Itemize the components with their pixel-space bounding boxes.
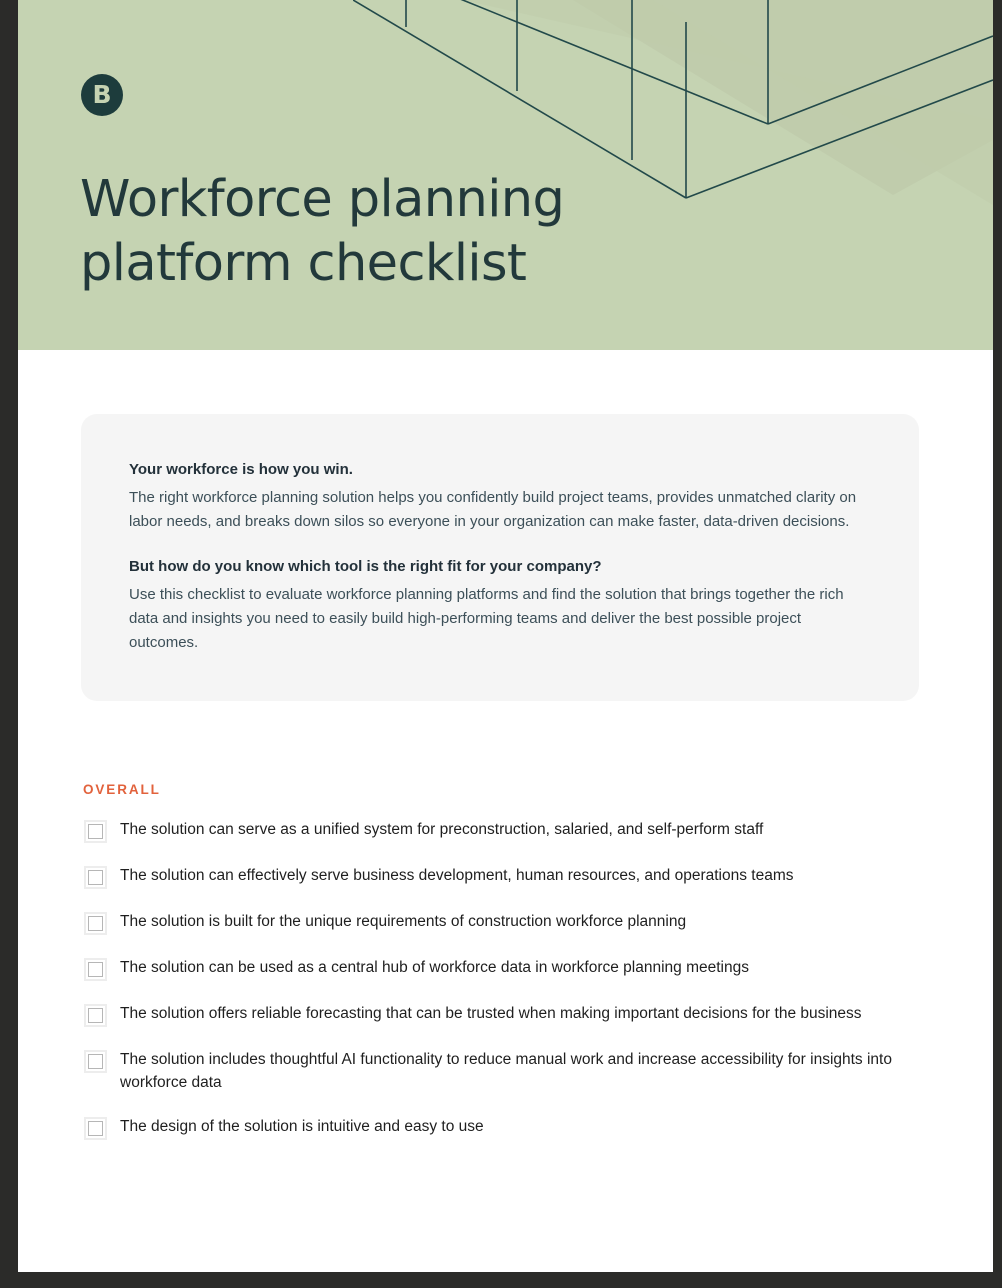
intro-card: Your workforce is how you win. The right…: [81, 414, 919, 701]
checkbox-unchecked-icon[interactable]: [84, 1117, 107, 1140]
checkbox-unchecked-icon[interactable]: [84, 1004, 107, 1027]
intro-heading: Your workforce is how you win.: [129, 458, 871, 482]
checklist-section: OVERALL The solution can serve as a unif…: [81, 782, 941, 1140]
checklist-item-label: The design of the solution is intuitive …: [120, 1116, 484, 1139]
intro-body: The right workforce planning solution he…: [129, 486, 871, 534]
checklist-item-label: The solution can serve as a unified syst…: [120, 819, 763, 842]
checklist-item-label: The solution is built for the unique req…: [120, 911, 686, 934]
checklist-item-label: The solution can effectively serve busin…: [120, 865, 793, 888]
brand-logo-icon[interactable]: B: [81, 74, 123, 116]
checklist-item[interactable]: The solution can be used as a central hu…: [81, 957, 941, 981]
checkbox-unchecked-icon[interactable]: [84, 1050, 107, 1073]
checklist-item[interactable]: The design of the solution is intuitive …: [81, 1116, 941, 1140]
checklist-item[interactable]: The solution includes thoughtful AI func…: [81, 1049, 941, 1094]
document-viewport: B Workforce planning platform checklist …: [0, 0, 1002, 1288]
section-heading-overall: OVERALL: [83, 782, 941, 797]
checkbox-unchecked-icon[interactable]: [84, 912, 107, 935]
checklist-item[interactable]: The solution can effectively serve busin…: [81, 865, 941, 889]
document-page: B Workforce planning platform checklist …: [18, 0, 993, 1272]
checklist-item[interactable]: The solution offers reliable forecasting…: [81, 1003, 941, 1027]
intro-heading: But how do you know which tool is the ri…: [129, 555, 871, 579]
checklist-item-label: The solution includes thoughtful AI func…: [120, 1049, 910, 1094]
checkbox-unchecked-icon[interactable]: [84, 958, 107, 981]
checkbox-unchecked-icon[interactable]: [84, 820, 107, 843]
checklist-item[interactable]: The solution is built for the unique req…: [81, 911, 941, 935]
checklist: The solution can serve as a unified syst…: [81, 819, 941, 1140]
intro-block: Your workforce is how you win. The right…: [129, 458, 871, 534]
hero-banner: B Workforce planning platform checklist: [18, 0, 993, 350]
page-title: Workforce planning platform checklist: [80, 168, 564, 297]
checkbox-unchecked-icon[interactable]: [84, 866, 107, 889]
checklist-item-label: The solution offers reliable forecasting…: [120, 1003, 862, 1026]
checklist-item[interactable]: The solution can serve as a unified syst…: [81, 819, 941, 843]
checklist-item-label: The solution can be used as a central hu…: [120, 957, 749, 980]
intro-block: But how do you know which tool is the ri…: [129, 555, 871, 655]
intro-body: Use this checklist to evaluate workforce…: [129, 583, 871, 655]
